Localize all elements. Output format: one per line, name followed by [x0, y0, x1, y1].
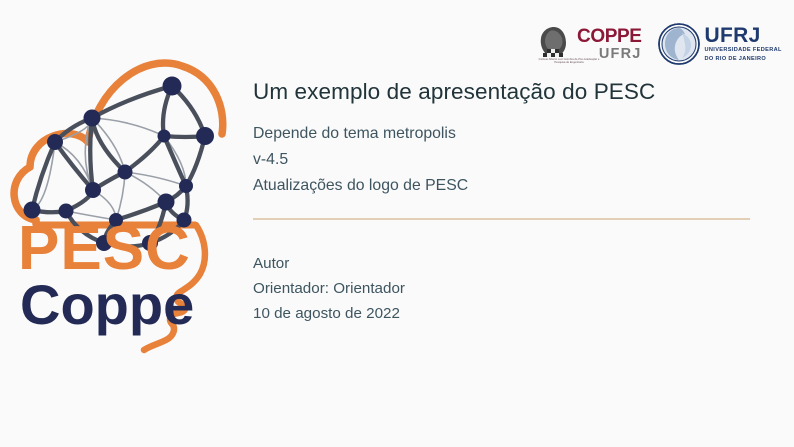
slide-title: Um exemplo de apresentação do PESC — [253, 78, 763, 105]
subtitle-line: Atualizações do logo de PESC — [253, 173, 763, 199]
coppe-seal-icon — [536, 25, 572, 59]
institutional-logos: Instituto Alberto Luiz Coimbra de Pós-Gr… — [536, 20, 784, 68]
advisor-line: Orientador: Orientador — [253, 276, 763, 301]
subtitle-line: Depende do tema metropolis — [253, 121, 763, 147]
slide-text-block: Um exemplo de apresentação do PESC Depen… — [253, 78, 763, 326]
ufrj-sub-line-1: UNIVERSIDADE FEDERAL — [705, 47, 782, 54]
slide-subtitle: Depende do tema metropolis v-4.5 Atualiz… — [253, 121, 763, 199]
slide-meta-block: Autor Orientador: Orientador 10 de agost… — [253, 251, 763, 326]
coppe-wordmark: COPPE — [577, 27, 642, 46]
subtitle-line: v-4.5 — [253, 147, 763, 173]
ufrj-logo: UFRJ UNIVERSIDADE FEDERAL DO RIO DE JANE… — [658, 23, 782, 65]
presentation-title-slide: PESC Coppe Instituto Alberto Luiz Coimbr… — [0, 0, 794, 447]
divider-rule — [253, 218, 750, 220]
coppe-logo: Instituto Alberto Luiz Coimbra de Pós-Gr… — [536, 25, 642, 64]
svg-text:Coppe: Coppe — [20, 273, 194, 336]
date-line: 10 de agosto de 2022 — [253, 301, 763, 326]
pesc-coppe-logo: PESC Coppe — [0, 24, 246, 354]
author-line: Autor — [253, 251, 763, 276]
ufrj-seal-icon — [658, 23, 700, 65]
ufrj-wordmark: UFRJ — [705, 25, 782, 46]
ufrj-sub-line-2: DO RIO DE JANEIRO — [705, 56, 782, 63]
coppe-institute-line: Instituto Alberto Luiz Coimbra de Pós-Gr… — [536, 58, 602, 65]
